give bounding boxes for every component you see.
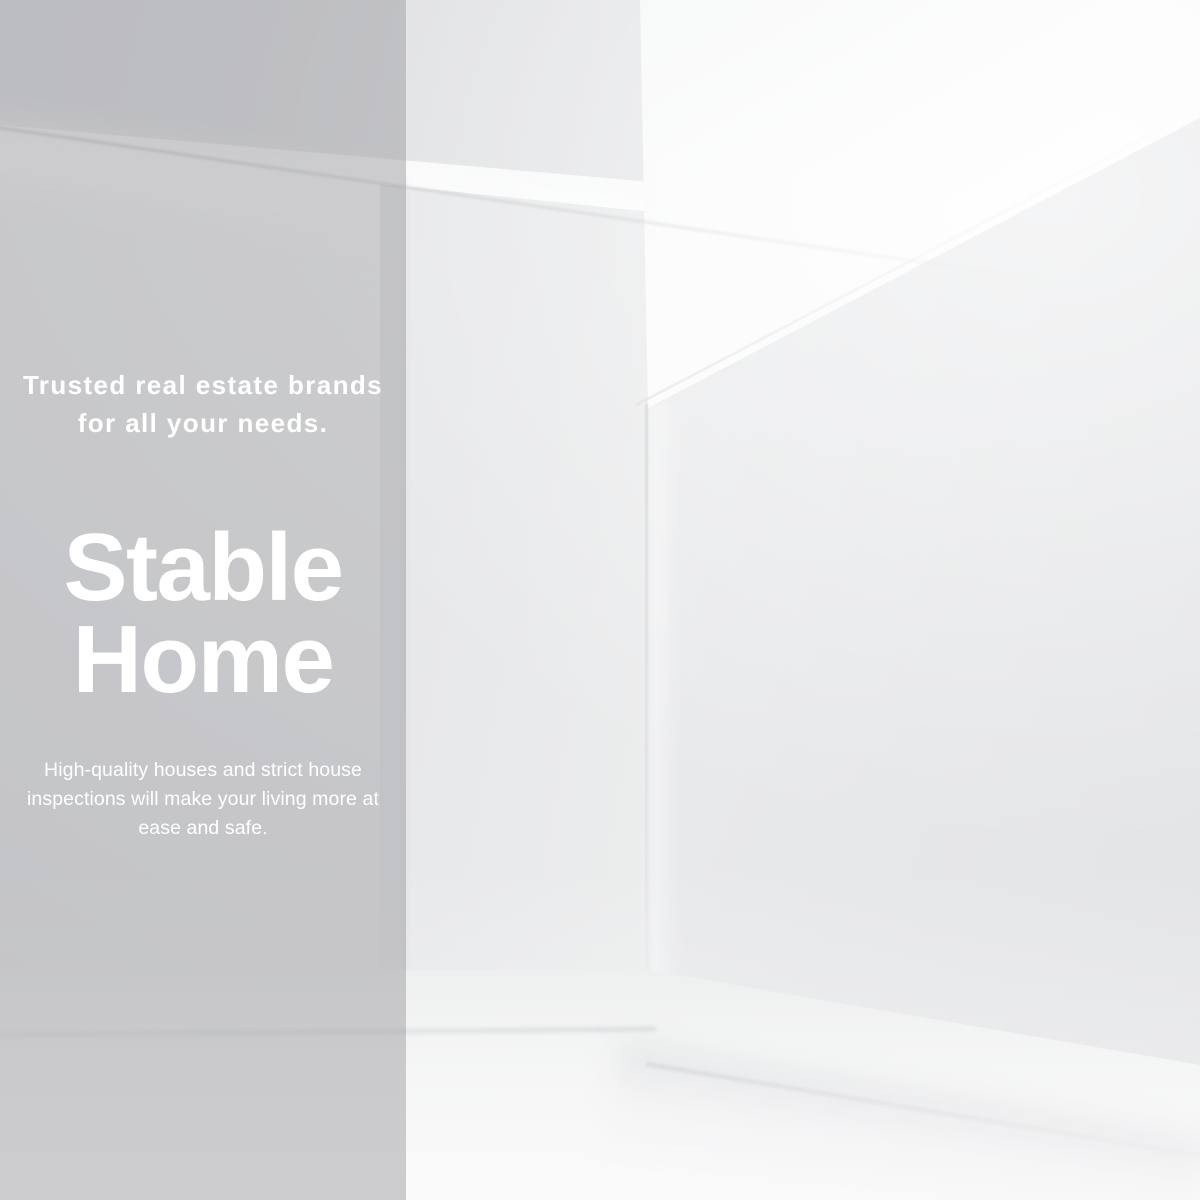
page-title: Stable Home bbox=[22, 522, 384, 706]
text-content-group: Trusted real estate brands for all your … bbox=[0, 0, 406, 1200]
eyebrow-tagline: Trusted real estate brands for all your … bbox=[22, 366, 384, 442]
poster-canvas: Trusted real estate brands for all your … bbox=[0, 0, 1200, 1200]
body-description: High-quality houses and strict house ins… bbox=[22, 756, 384, 843]
